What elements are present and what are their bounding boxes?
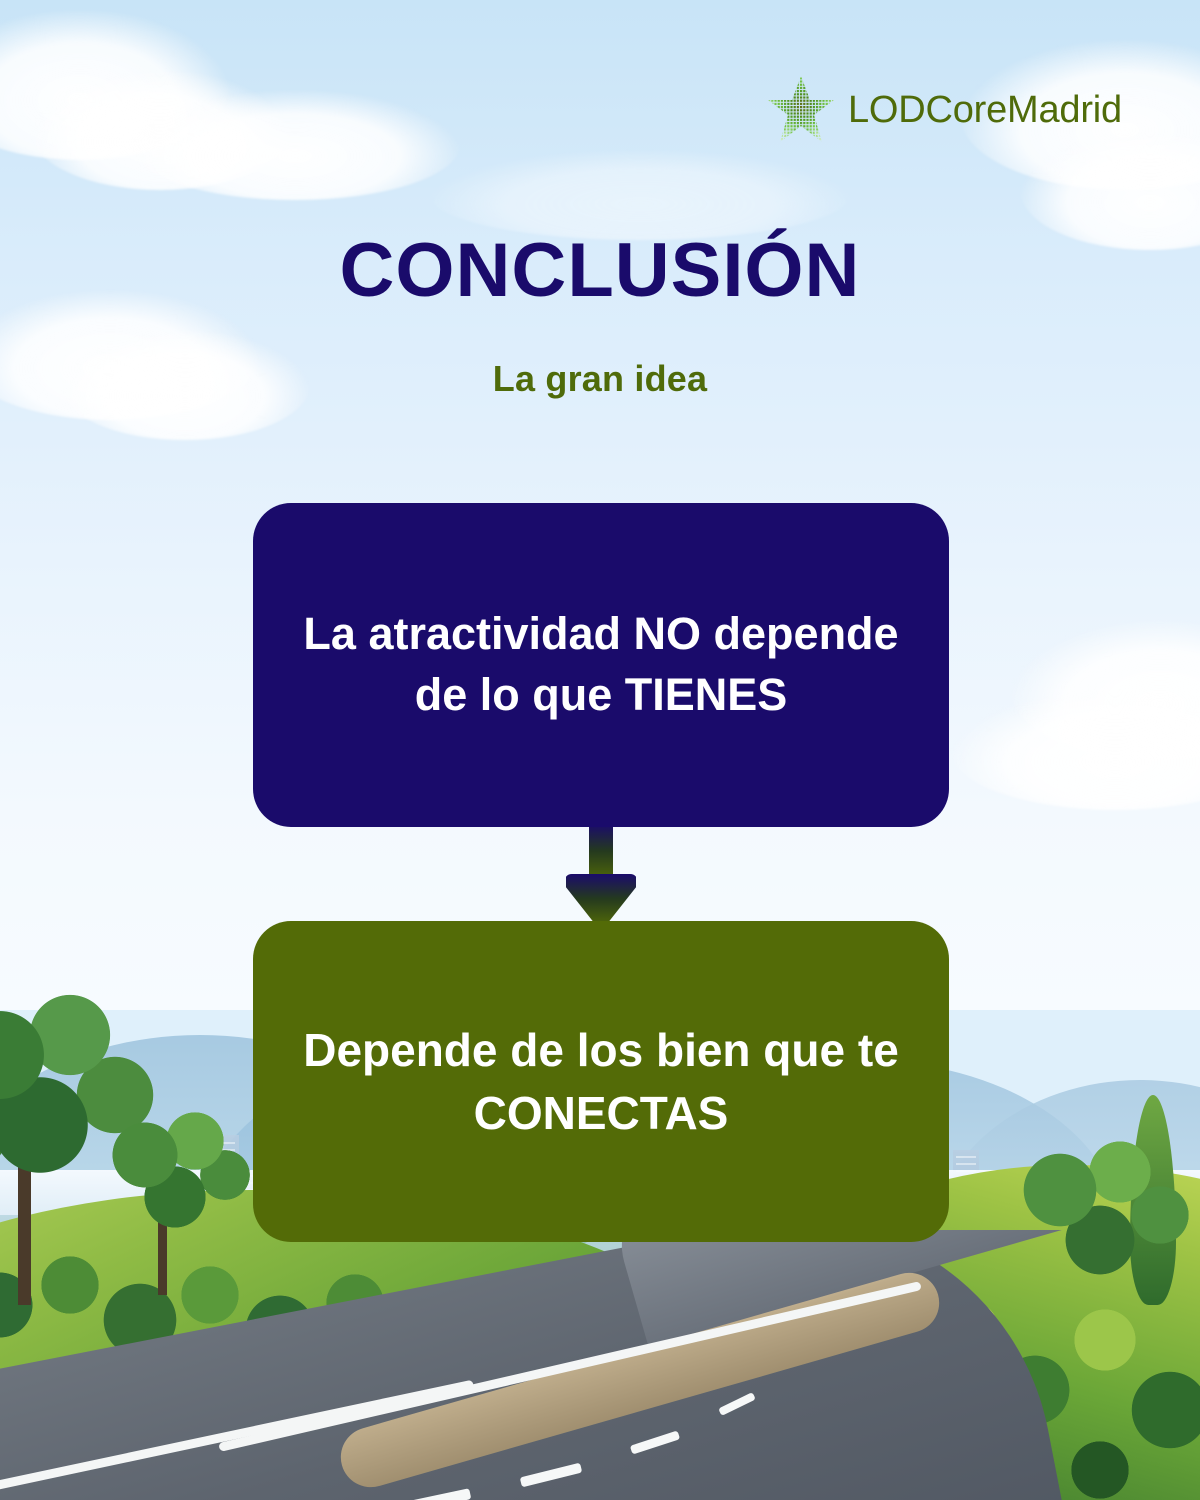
- statement-card-solution: Depende de los bien que te CONECTAS: [253, 921, 949, 1242]
- page-subtitle: La gran idea: [0, 358, 1200, 400]
- statement-card-problem: La atractividad NO depende de lo que TIE…: [253, 503, 949, 827]
- statement-card-solution-text: Depende de los bien que te CONECTAS: [253, 1019, 949, 1143]
- cloud: [130, 90, 460, 200]
- pixel-star-icon: [768, 74, 834, 146]
- page-title: CONCLUSIÓN: [0, 227, 1200, 314]
- poster-canvas: LODCoreMadrid CONCLUSIÓN La gran idea La…: [0, 0, 1200, 1500]
- arrow-down-icon: [566, 824, 636, 928]
- brand-logo[interactable]: LODCoreMadrid: [768, 74, 1122, 146]
- statement-card-problem-text: La atractividad NO depende de lo que TIE…: [253, 604, 949, 726]
- tree-canopy: [95, 1105, 265, 1235]
- brand-name: LODCoreMadrid: [848, 89, 1122, 132]
- road: [0, 1230, 1200, 1500]
